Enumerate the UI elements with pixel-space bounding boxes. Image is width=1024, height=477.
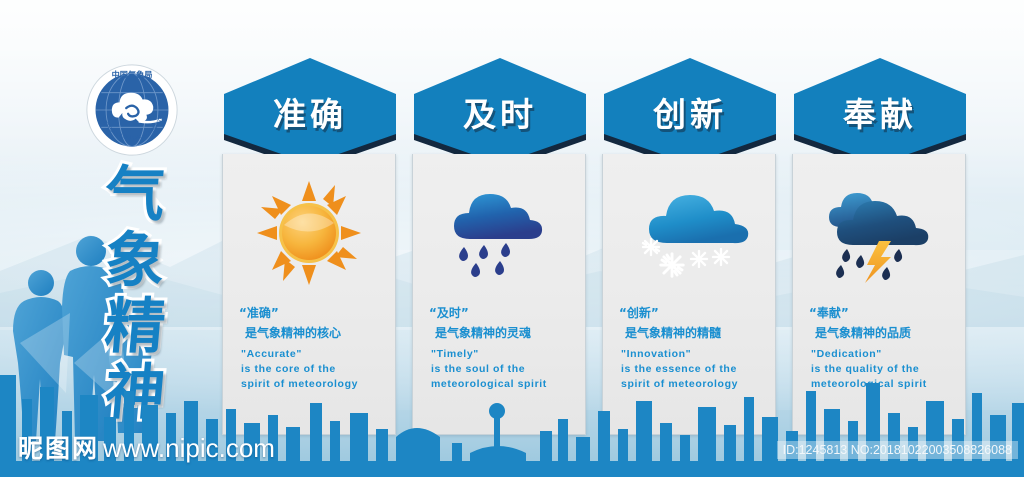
- panel-header-innovation: 创新: [602, 58, 778, 166]
- site-watermark: 昵图网 www.nipic.com: [18, 429, 275, 465]
- caption-cn-line: 是气象精神的精髓: [625, 324, 763, 341]
- caption-cn-quote: “创新”: [619, 304, 763, 321]
- caption-cn-line: 是气象精神的灵魂: [435, 324, 573, 341]
- panel-icon-innovation: [603, 154, 775, 304]
- rain-cloud-icon: [440, 181, 558, 285]
- vertical-title-char-3: 精: [67, 294, 203, 360]
- vertical-title-char-1: 气: [67, 162, 203, 228]
- logo-cn-text: 中国气象局: [112, 69, 153, 79]
- panel-header-dedication: 奉献: [792, 58, 968, 166]
- vertical-title-char-2: 象: [67, 228, 203, 294]
- cma-logo: 中国气象局 CHINA METEOROLOGICAL ADMINISTRATIO…: [84, 62, 180, 158]
- sun-icon: [257, 181, 361, 285]
- thunderstorm-icon: [817, 181, 941, 285]
- panel-title-innovation: 创新: [602, 88, 778, 136]
- panel-title-accurate: 准确: [222, 88, 398, 136]
- panel-header-accurate: 准确: [222, 58, 398, 166]
- panel-title-dedication: 奉献: [792, 88, 968, 136]
- panel-icon-dedication: [793, 154, 965, 304]
- caption-cn-quote: “奉献”: [809, 304, 953, 321]
- asset-id-watermark: ID:1245813 NO:20181022003508826088: [777, 441, 1018, 459]
- caption-cn-quote: “及时”: [429, 304, 573, 321]
- snow-cloud-icon: [627, 181, 751, 285]
- caption-cn-quote: “准确”: [239, 304, 383, 321]
- site-watermark-cn: 昵图网: [18, 429, 99, 465]
- poster-canvas: 中国气象局 CHINA METEOROLOGICAL ADMINISTRATIO…: [0, 0, 1024, 477]
- caption-cn-line: 是气象精神的核心: [245, 324, 383, 341]
- panel-icon-timely: [413, 154, 585, 304]
- panel-icon-accurate: [223, 154, 395, 304]
- cma-emblem-icon: 中国气象局 CHINA METEOROLOGICAL ADMINISTRATIO…: [84, 62, 180, 158]
- site-watermark-url: www.nipic.com: [103, 433, 275, 464]
- brand-block: 中国气象局 CHINA METEOROLOGICAL ADMINISTRATIO…: [52, 62, 212, 158]
- panel-header-timely: 及时: [412, 58, 588, 166]
- panel-title-timely: 及时: [412, 88, 588, 136]
- caption-cn-line: 是气象精神的品质: [815, 324, 953, 341]
